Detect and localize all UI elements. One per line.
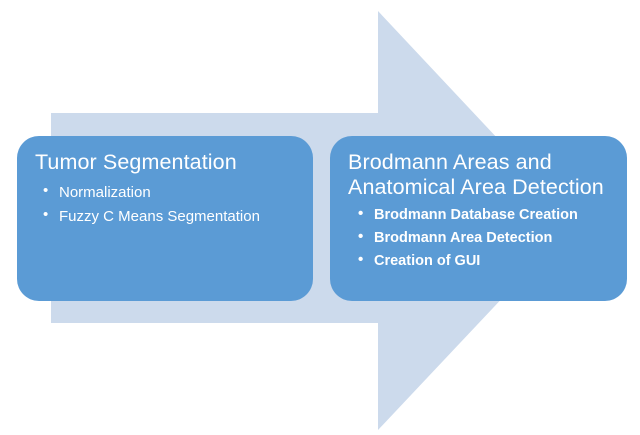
list-item: Normalization	[43, 181, 297, 205]
stage-box-tumor-segmentation[interactable]: Tumor Segmentation Normalization Fuzzy C…	[17, 136, 313, 301]
stage-box-brodmann-areas[interactable]: Brodmann Areas and Anatomical Area Detec…	[330, 136, 627, 301]
list-item: Brodmann Database Creation	[358, 204, 611, 227]
list-item: Creation of GUI	[358, 250, 611, 273]
stage-title: Brodmann Areas and Anatomical Area Detec…	[348, 150, 611, 200]
stage-bullet-list: Normalization Fuzzy C Means Segmentation	[33, 181, 297, 229]
list-item: Brodmann Area Detection	[358, 227, 611, 250]
stage-title: Tumor Segmentation	[35, 150, 297, 175]
list-item: Fuzzy C Means Segmentation	[43, 205, 297, 229]
diagram-canvas: Tumor Segmentation Normalization Fuzzy C…	[0, 0, 640, 435]
stage-bullet-list: Brodmann Database Creation Brodmann Area…	[346, 204, 611, 273]
